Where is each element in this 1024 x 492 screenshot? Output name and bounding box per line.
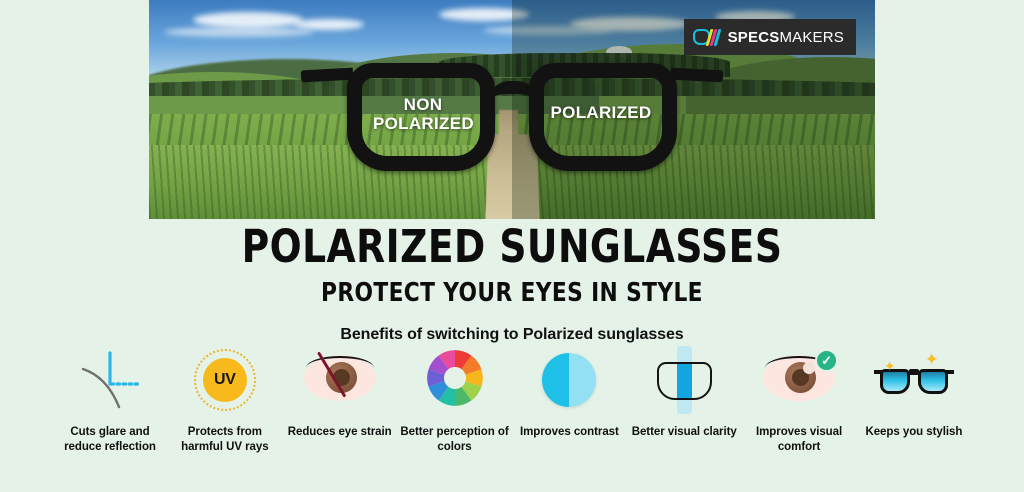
eye-strain-crossed-icon (304, 355, 376, 405)
color-wheel-icon (426, 349, 484, 412)
non-polarized-line1: NON (373, 95, 473, 114)
polarized-label: POLARIZED (539, 103, 663, 122)
icon-container (649, 341, 719, 419)
benefits-row: Cuts glare and reduce reflection UV Prot… (54, 341, 970, 455)
benefit-item: ✓ Improves visual comfort (743, 341, 855, 455)
check-badge-icon: ✓ (815, 349, 838, 372)
benefit-item: Better perception of colors (399, 341, 511, 455)
non-polarized-label: NON POLARIZED (373, 95, 473, 133)
icon-container (77, 341, 143, 419)
benefit-label: Better visual clarity (632, 425, 737, 440)
icon-container: ✦ ✦ (875, 341, 953, 419)
glasses-lens-icon (693, 29, 719, 46)
benefit-item: Cuts glare and reduce reflection (54, 341, 166, 455)
icon-container (542, 341, 596, 419)
benefit-item: ✦ ✦ Keeps you stylish (858, 341, 970, 440)
benefit-item: Better visual clarity (628, 341, 740, 440)
icon-container: UV (194, 341, 256, 419)
specsmakers-logo[interactable]: SPECSMAKERS (684, 19, 856, 55)
benefit-label: Keeps you stylish (865, 425, 962, 440)
cloud (193, 12, 303, 28)
cloud (164, 27, 314, 37)
lens-clarity-icon (649, 346, 719, 414)
page-subtitle: PROTECT YOUR EYES IN STYLE (36, 280, 988, 306)
logo-wordmark: SPECSMAKERS (728, 30, 844, 45)
eye-check-icon: ✓ (763, 355, 835, 405)
benefit-item: Improves contrast (513, 341, 625, 440)
non-polarized-line2: POLARIZED (373, 114, 473, 133)
hero-banner: SPECSMAKERS NON POLARIZED POLARIZED (149, 0, 875, 219)
icon-container (304, 341, 376, 419)
uv-shield-icon: UV (194, 349, 256, 411)
logo-brand-bold: SPECS (728, 29, 780, 46)
benefit-label: Improves visual comfort (743, 425, 855, 455)
glare-reflection-icon (77, 349, 143, 411)
sunglasses-overlay: NON POLARIZED POLARIZED (347, 63, 677, 175)
headings-block: POLARIZED SUNGLASSES PROTECT YOUR EYES I… (0, 224, 1024, 344)
icon-container (426, 341, 484, 419)
benefit-label: Better perception of colors (399, 425, 511, 455)
infographic-page: SPECSMAKERS NON POLARIZED POLARIZED POLA… (0, 0, 1024, 492)
benefit-label: Reduces eye strain (288, 425, 392, 440)
logo-brand-light: MAKERS (779, 29, 844, 46)
benefit-item: UV Protects from harmful UV rays (169, 341, 281, 455)
sunglasses-sparkle-icon: ✦ ✦ (875, 355, 953, 405)
uv-badge-text: UV (203, 358, 247, 402)
benefit-label: Improves contrast (520, 425, 619, 440)
icon-container: ✓ (763, 341, 835, 419)
sparkle-icon: ✦ (884, 359, 896, 373)
benefit-label: Cuts glare and reduce reflection (54, 425, 166, 455)
benefit-item: Reduces eye strain (284, 341, 396, 440)
page-title: POLARIZED SUNGLASSES (36, 224, 988, 269)
benefit-label: Protects from harmful UV rays (169, 425, 281, 455)
contrast-circle-icon (542, 353, 596, 407)
sparkle-icon: ✦ (925, 351, 939, 368)
